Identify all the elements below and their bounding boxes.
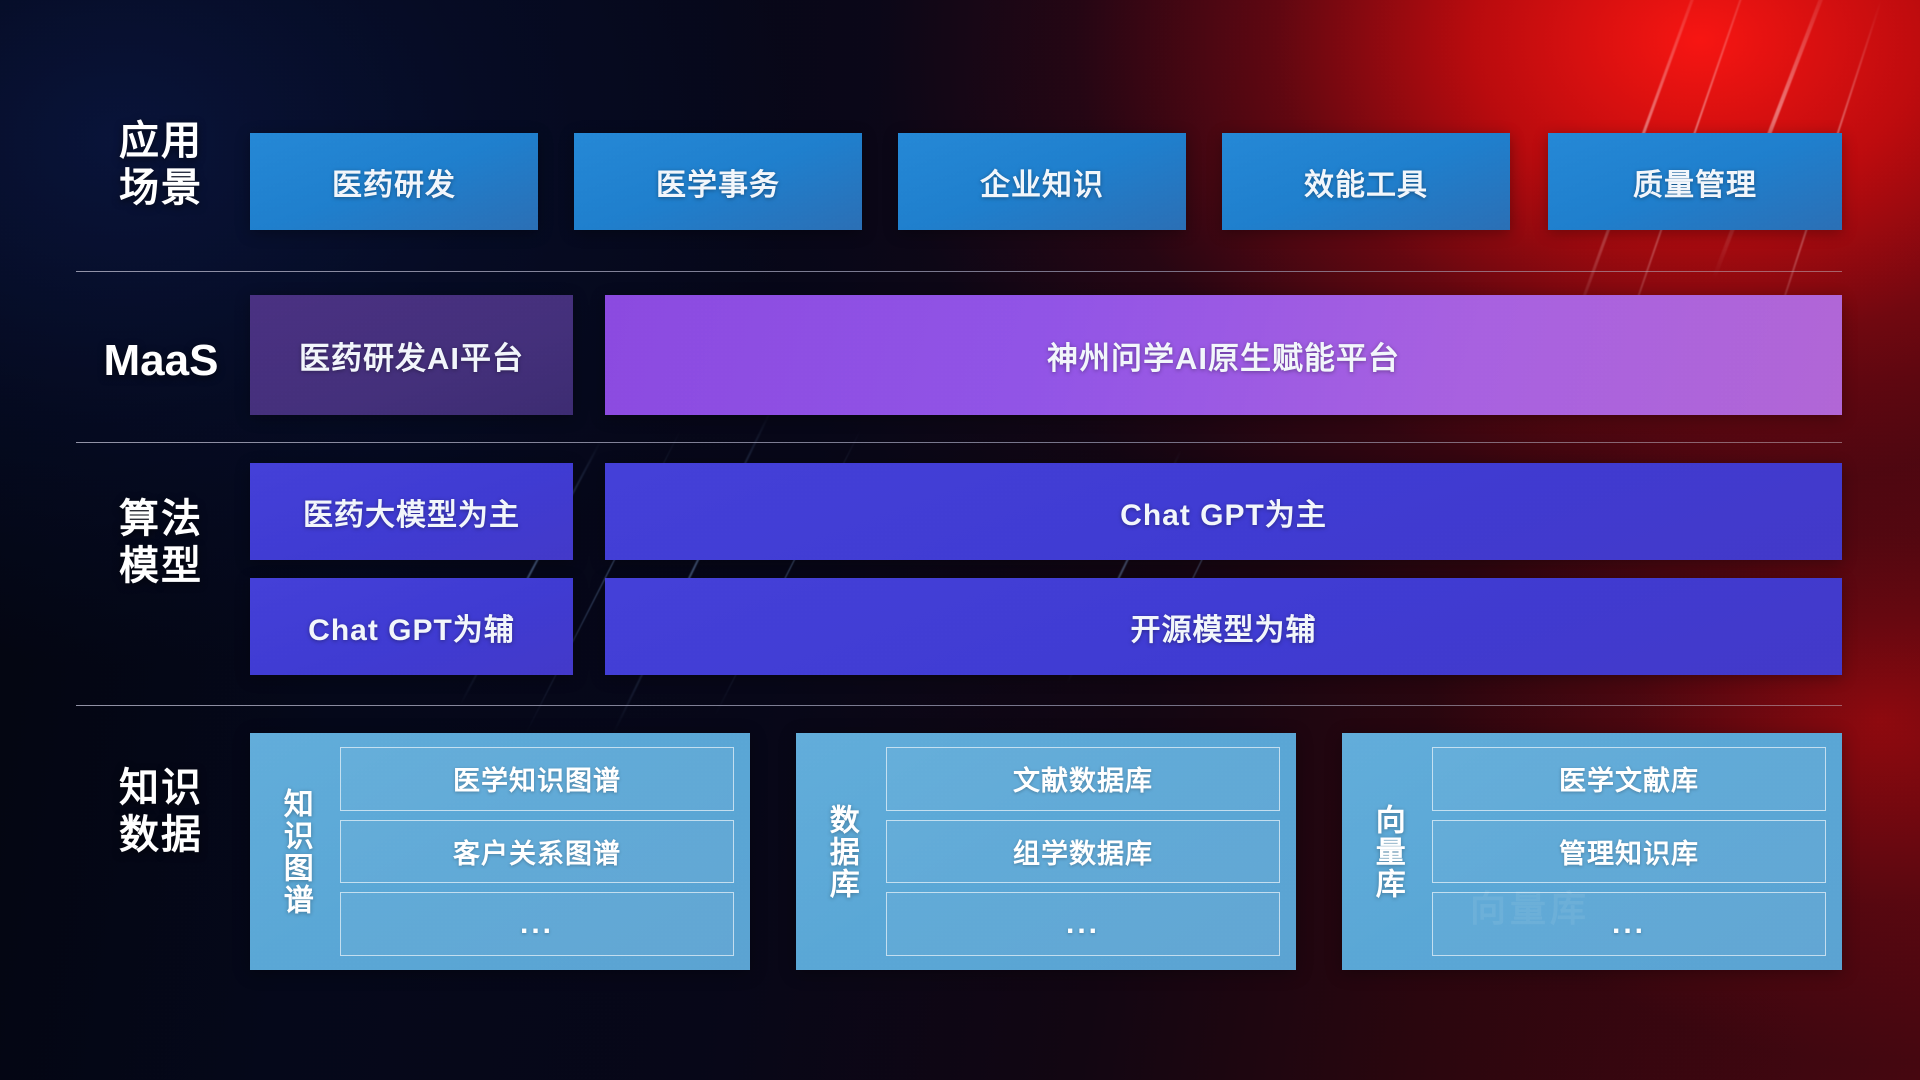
row-label-line-1: 应用 <box>76 118 246 165</box>
app-box-4[interactable]: 效能工具 <box>1222 133 1510 230</box>
architecture-diagram: 应用 场景 医药研发 医学事务 企业知识 效能工具 质量管理 MaaS 医药研发… <box>0 0 1920 1080</box>
row-label-maas: MaaS <box>76 335 246 387</box>
knowledge-group-title: 向量库 <box>1358 747 1416 956</box>
app-box-1[interactable]: 医药研发 <box>250 133 538 230</box>
divider-1 <box>76 271 1842 272</box>
knowledge-item[interactable]: 医学知识图谱 <box>340 747 734 811</box>
knowledge-group-database[interactable]: 数据库 文献数据库 组学数据库 ... <box>796 733 1296 970</box>
row-label-line-2: 场景 <box>76 165 246 212</box>
knowledge-item[interactable]: 客户关系图谱 <box>340 820 734 884</box>
row-label-line-1: 算法 <box>76 496 246 543</box>
maas-platform-box-right[interactable]: 神州问学AI原生赋能平台 <box>605 295 1842 415</box>
divider-3 <box>76 705 1842 706</box>
knowledge-group-item-list: 医学文献库 管理知识库 ... <box>1432 747 1826 956</box>
app-box-2[interactable]: 医学事务 <box>574 133 862 230</box>
row-label-line-2: 模型 <box>76 543 246 590</box>
row-label-algorithm-models: 算法 模型 <box>76 496 246 590</box>
knowledge-group-graph[interactable]: 知识图谱 医学知识图谱 客户关系图谱 ... <box>250 733 750 970</box>
knowledge-item-more[interactable]: ... <box>1432 892 1826 956</box>
algo-box-left-secondary[interactable]: Chat GPT为辅 <box>250 578 573 675</box>
row-label-line-2: 数据 <box>76 812 246 859</box>
knowledge-item-more[interactable]: ... <box>886 892 1280 956</box>
divider-2 <box>76 442 1842 443</box>
knowledge-group-item-list: 文献数据库 组学数据库 ... <box>886 747 1280 956</box>
knowledge-item[interactable]: 管理知识库 <box>1432 820 1826 884</box>
diagram-canvas: 应用 场景 医药研发 医学事务 企业知识 效能工具 质量管理 MaaS 医药研发… <box>0 0 1920 1080</box>
knowledge-item-more[interactable]: ... <box>340 892 734 956</box>
row-label-knowledge-data: 知识 数据 <box>76 765 246 859</box>
maas-platform-box-left[interactable]: 医药研发AI平台 <box>250 295 573 415</box>
app-box-5[interactable]: 质量管理 <box>1548 133 1842 230</box>
algo-box-right-secondary[interactable]: 开源模型为辅 <box>605 578 1842 675</box>
algo-box-right-primary[interactable]: Chat GPT为主 <box>605 463 1842 560</box>
app-box-3[interactable]: 企业知识 <box>898 133 1186 230</box>
knowledge-group-item-list: 医学知识图谱 客户关系图谱 ... <box>340 747 734 956</box>
knowledge-group-title: 知识图谱 <box>266 747 324 956</box>
row-label-application-scenarios: 应用 场景 <box>76 118 246 212</box>
knowledge-group-vector-store[interactable]: 向量库 医学文献库 管理知识库 ... <box>1342 733 1842 970</box>
knowledge-item[interactable]: 文献数据库 <box>886 747 1280 811</box>
algo-box-left-primary[interactable]: 医药大模型为主 <box>250 463 573 560</box>
row-label-line-1: 知识 <box>76 765 246 812</box>
knowledge-item[interactable]: 医学文献库 <box>1432 747 1826 811</box>
knowledge-group-title: 数据库 <box>812 747 870 956</box>
knowledge-item[interactable]: 组学数据库 <box>886 820 1280 884</box>
